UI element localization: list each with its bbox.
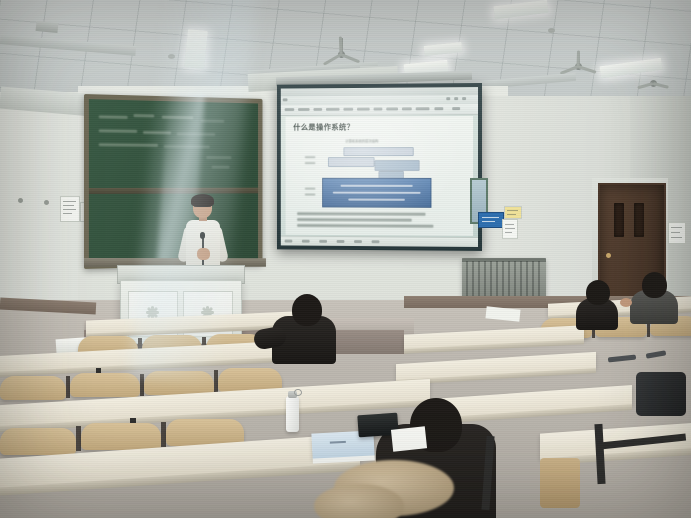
diagram-chip <box>328 157 375 167</box>
wall-notice-right <box>668 222 686 244</box>
door-knob-icon[interactable] <box>606 253 611 258</box>
wall-screw-icon <box>44 200 49 205</box>
ceiling-fan <box>636 74 670 96</box>
diagram-label <box>305 162 316 164</box>
lecturer-hands <box>197 248 210 260</box>
diagram-chip <box>375 160 420 171</box>
chalkboard-surface <box>89 99 258 264</box>
wall-screw-icon <box>18 198 23 203</box>
glasses-icon <box>194 206 211 211</box>
slide-body-line <box>297 218 412 221</box>
student-hand <box>620 298 632 307</box>
browser-ribbon-toolbar[interactable] <box>281 104 478 116</box>
slide-body-line <box>297 212 425 215</box>
paper-sheet-on-desk <box>391 426 427 451</box>
notebook-label <box>330 441 346 444</box>
slide-title: 什么是操作系统？ <box>293 122 354 133</box>
slide-body-line <box>297 224 433 227</box>
projected-image: 什么是操作系统？ 计算机系统的层次结构 <box>281 87 478 247</box>
slide-highlight-box <box>322 178 431 208</box>
browser-status-bar <box>281 236 478 247</box>
projection-screen: 什么是操作系统？ 计算机系统的层次结构 <box>277 83 482 251</box>
ceiling-light-panel <box>184 29 208 69</box>
wall-placard-blue <box>478 212 504 228</box>
diagram-label <box>305 194 316 196</box>
thermos-loop-icon <box>294 389 302 396</box>
wall-notice-left <box>60 196 80 222</box>
student-head <box>292 294 322 326</box>
diagram-chip <box>343 147 413 156</box>
student-head <box>642 272 667 298</box>
backpack[interactable] <box>636 372 686 416</box>
smoke-detector-icon <box>548 28 555 33</box>
ceiling-speaker <box>36 21 59 33</box>
ceiling-fan <box>322 38 362 66</box>
student-head <box>586 280 610 305</box>
wall-notice-white <box>502 219 518 239</box>
wall-notice-yellow <box>504 206 522 219</box>
slide-canvas: 什么是操作系统？ 计算机系统的层次结构 <box>286 116 473 236</box>
chair-back <box>540 458 580 508</box>
diagram-label <box>305 188 316 190</box>
slide-subtitle: 计算机系统的层次结构 <box>345 138 378 143</box>
microphone-icon <box>200 232 205 239</box>
thermos-bottle[interactable] <box>286 396 299 432</box>
lecture-hall-photo: 什么是操作系统？ 计算机系统的层次结构 <box>0 0 691 518</box>
chalkboard <box>84 94 262 269</box>
diagram-label <box>305 156 316 158</box>
smoke-detector-icon <box>168 54 175 59</box>
